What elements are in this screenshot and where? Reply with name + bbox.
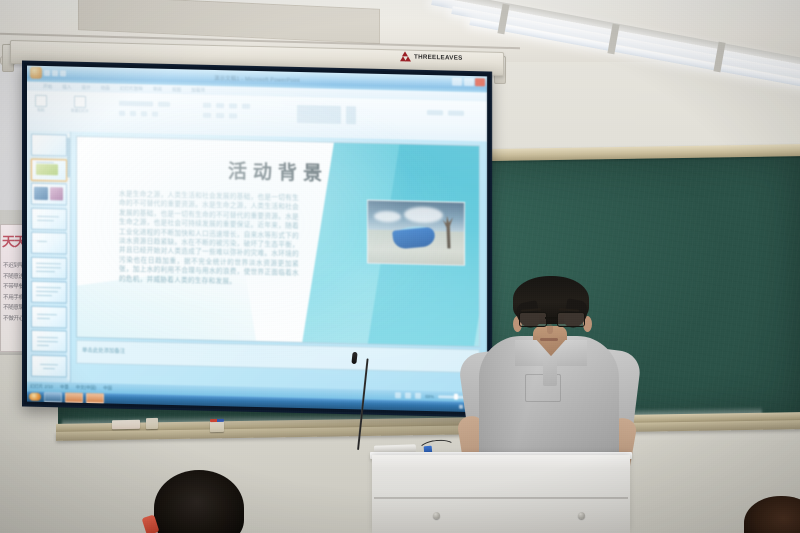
podium-knob[interactable] [433,512,440,519]
taskbar-item-powerpoint[interactable] [65,392,83,402]
audience-student-left [140,470,256,533]
shapes-gallery-icon[interactable] [297,105,341,124]
slide-thumbnail-1[interactable]: 1 [31,134,67,157]
slide-thumbnail-4[interactable] [31,207,67,230]
ribbon-group-label: 新建幻灯片 [71,109,89,114]
taskbar-item-media[interactable] [86,393,104,403]
tab-insert[interactable]: 插入 [62,84,71,90]
three-diamond-icon [400,51,411,61]
eraser[interactable] [146,418,158,429]
taskbar-item-explorer[interactable] [44,392,62,402]
brand-label: THREELEAVES [414,53,463,61]
bullets-icon[interactable] [203,103,211,108]
zoom-level: 69% [425,393,434,398]
language-indicator[interactable]: 中文(中国) [76,385,97,391]
tab-addins[interactable]: 加载项 [191,87,205,93]
projection-screen: 演示文稿1 - Microsoft PowerPoint 开始 插入 设计 动画… [22,60,492,417]
office-orb-icon[interactable] [30,67,42,79]
slide-thumbnail-pane[interactable]: 1 2 [27,131,71,383]
font-name-box[interactable] [119,101,153,107]
slideshow-icon[interactable] [415,393,421,399]
tab-animations[interactable]: 动画 [101,85,110,91]
italic-icon[interactable] [130,111,136,116]
podium-knob[interactable] [578,512,585,519]
slide-thumbnail-5[interactable] [31,232,67,255]
presenter-nose [547,324,553,334]
undo-icon[interactable] [52,70,58,76]
slide-title[interactable]: 活动背景 [77,153,479,189]
quick-access-toolbar[interactable] [30,67,66,80]
classroom-presentation-scene: 天天向上 不迟到早退 不随意进出 不带早餐 不用手机 不随意聊天 不做开心 TH… [0,0,800,533]
align-center-icon[interactable] [242,104,250,109]
close-icon[interactable] [475,78,485,86]
indent-icon[interactable] [203,113,211,118]
tab-view[interactable]: 视图 [172,86,181,92]
select-icon[interactable] [448,111,464,116]
redo-icon[interactable] [60,70,66,76]
window-title: 演示文稿1 - Microsoft PowerPoint [214,74,300,84]
new-slide-icon[interactable] [74,96,86,108]
window-controls[interactable] [452,77,485,86]
presenter [455,278,645,478]
tab-slideshow[interactable]: 幻灯片放映 [120,85,143,92]
slide-thumbnail-10[interactable] [31,354,67,377]
start-orb-icon[interactable] [29,393,41,401]
student-hair [154,470,244,533]
slide-thumbnail-3[interactable] [31,183,67,206]
eraser-colored[interactable] [210,421,224,432]
tab-design[interactable]: 设计 [81,84,90,90]
minimize-icon[interactable] [452,77,462,85]
slide-body-text[interactable]: 水是生命之源，人类生活和社会发展的基础，也是一切有生命的不可替代的重要资源。水是… [119,190,299,288]
glasses-lens [519,312,547,327]
podium-drawer-seam [374,497,628,499]
tab-home[interactable]: 开始 [43,83,52,89]
presenter-placket [543,356,557,386]
bold-icon[interactable] [119,111,125,116]
slide-sorter-icon[interactable] [405,392,411,398]
save-icon[interactable] [44,70,50,76]
text-direction-icon[interactable] [229,113,237,118]
clipboard-icon[interactable] [35,95,47,107]
slide-indicator: 幻灯片 2/10 [30,384,53,391]
slide-thumbnail-7[interactable] [31,281,67,304]
slide-image[interactable] [367,200,465,266]
glasses-icon [517,312,585,325]
ribbon-group-paste[interactable]: 粘贴 [35,95,47,113]
underline-icon[interactable] [141,111,147,116]
normal-view-icon[interactable] [395,392,401,398]
audience-student-right [744,496,800,533]
shape-styles-icon[interactable] [346,106,356,124]
find-icon[interactable] [427,110,443,115]
ribbon-group-new-slide[interactable]: 新建幻灯片 [71,96,89,114]
ime-indicator[interactable]: 中国 [103,385,112,391]
projector-brand: THREELEAVES [400,51,463,63]
paragraph-row-2[interactable] [203,113,237,119]
theme-name: 中量 [60,384,69,390]
slide-thumbnail-9[interactable] [31,330,67,353]
tab-review[interactable]: 审阅 [153,86,162,92]
chalk-stick[interactable] [112,420,140,429]
podium [372,455,630,533]
editor-body: 1 2 [27,131,487,393]
status-left: 幻灯片 2/10 中量 中文(中国) 中国 [30,384,112,392]
powerpoint-window[interactable]: 演示文稿1 - Microsoft PowerPoint 开始 插入 设计 动画… [27,66,487,413]
slide-thumbnail-2[interactable]: 2 [31,158,67,181]
slide-canvas-area[interactable]: 活动背景 水是生命之源，人类生活和社会发展的基础，也是一切有生命的不可替代的重要… [73,132,483,393]
shadow-icon[interactable] [152,112,158,117]
current-slide[interactable]: 活动背景 水是生命之源，人类生活和社会发展的基础，也是一切有生命的不可替代的重要… [76,136,480,348]
notes-placeholder: 单击此处添加备注 [82,346,125,355]
numbering-icon[interactable] [216,103,224,108]
ribbon-group-label: 粘贴 [37,108,44,113]
maximize-icon[interactable] [464,77,474,85]
photo-cloud [404,206,442,223]
ribbon-group-paragraph[interactable] [203,103,250,109]
student-hair [744,496,800,533]
thumbnail-scrollbar[interactable] [67,134,70,381]
align-left-icon[interactable] [229,103,237,108]
glasses-bridge [545,317,557,319]
line-spacing-icon[interactable] [216,113,224,118]
slide-thumbnail-8[interactable] [31,305,67,328]
ribbon-group-editing[interactable] [427,110,464,116]
glasses-lens [557,312,585,327]
font-style-buttons[interactable] [119,111,158,117]
presenter-mouth [540,338,558,341]
ribbon-group-font[interactable] [119,101,170,107]
slide-thumbnail-6[interactable] [31,256,67,279]
font-size-box[interactable] [158,102,170,107]
ribbon-group-drawing[interactable] [297,105,356,124]
